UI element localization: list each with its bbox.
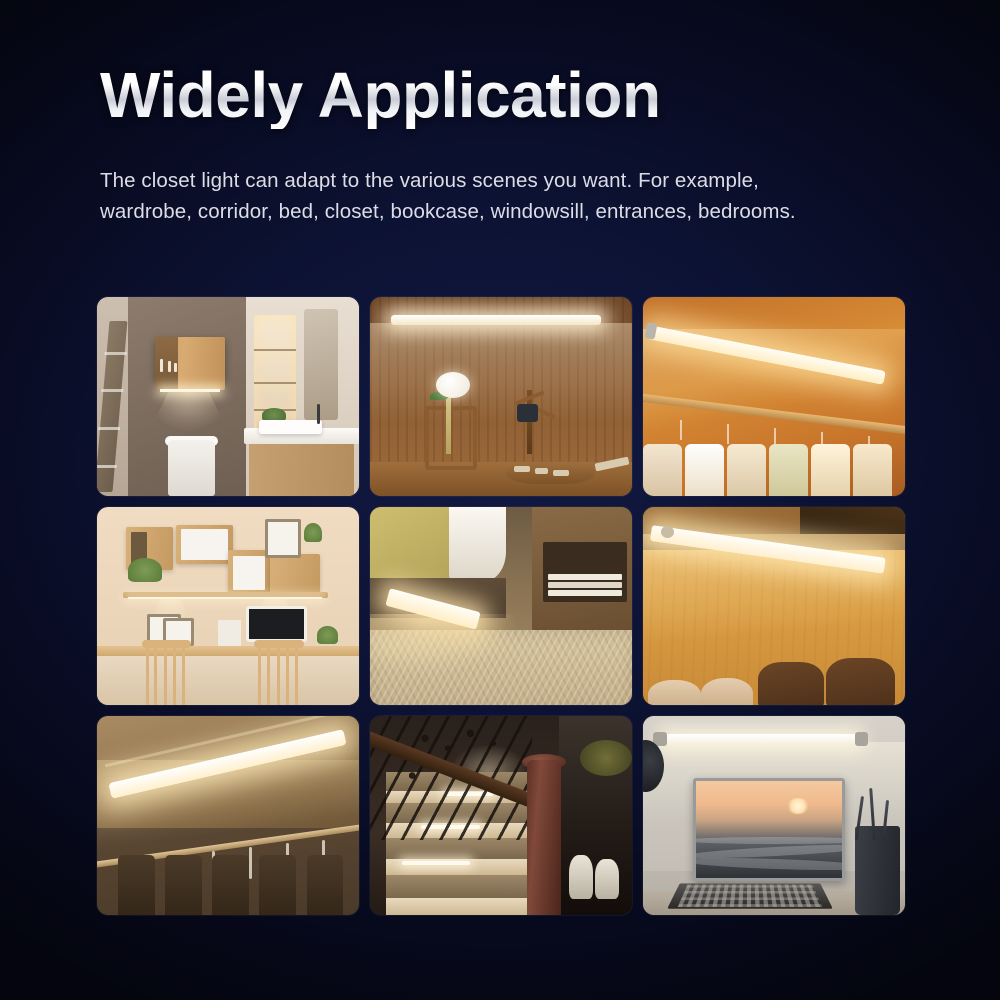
gallery-cell-laptop-desk[interactable] (643, 716, 905, 915)
garment (811, 444, 850, 496)
glass-vase (446, 390, 451, 454)
light-glow (370, 323, 632, 422)
led-bar (391, 315, 601, 325)
scene-laptop-desk (643, 716, 905, 915)
garment (212, 855, 249, 915)
gallery-cell-wardrobe-interior[interactable] (97, 716, 359, 915)
led-bar (664, 734, 858, 744)
scene-study-desk-shelves (97, 507, 359, 706)
shoe (701, 678, 753, 706)
gallery-cell-shoe-cabinet[interactable] (643, 507, 905, 706)
garment (165, 855, 202, 915)
garment (685, 444, 724, 496)
page-subtitle: The closet light can adapt to the variou… (100, 165, 800, 227)
gallery-cell-bedside-floor[interactable] (370, 507, 632, 706)
led-bar (128, 597, 322, 599)
scene-bedside-floor (370, 507, 632, 706)
duvet (449, 507, 507, 582)
garment (769, 444, 808, 496)
picture-frame (265, 519, 302, 559)
gallery-cell-closet-hanging-rod[interactable] (643, 297, 905, 496)
toilet (168, 440, 215, 496)
page-title: Widely Application (100, 62, 661, 129)
shelf-box (270, 554, 320, 594)
laptop-screen (693, 778, 845, 881)
vase-stand (425, 406, 477, 470)
laptop-keyboard (668, 884, 833, 909)
scene-closet-hanging-rod (643, 297, 905, 496)
boot (826, 658, 894, 706)
light-glow (370, 614, 559, 705)
gallery-cell-wardrobe-shelf-rose[interactable] (370, 297, 632, 496)
chair (254, 640, 304, 706)
gallery-cell-bathroom-vanity[interactable] (97, 297, 359, 496)
watch (517, 404, 538, 422)
scene-gallery-grid (97, 297, 905, 915)
scene-wardrobe-shelf-rose (370, 297, 632, 496)
garment (643, 444, 682, 496)
scene-staircase (370, 716, 632, 915)
pen-cup (855, 826, 900, 915)
scene-shoe-cabinet (643, 507, 905, 706)
boot (758, 662, 824, 706)
desk-surface (97, 646, 359, 656)
white-rose (436, 372, 470, 398)
garment (118, 855, 155, 915)
poster-canvas: Widely Application The closet light can … (0, 0, 1000, 1000)
garment (727, 444, 766, 496)
shoe (648, 680, 700, 706)
chair (142, 640, 192, 706)
iron-balustrade (370, 716, 532, 839)
gallery-cell-staircase[interactable] (370, 716, 632, 915)
faucet (317, 404, 320, 424)
scene-wardrobe-interior (97, 716, 359, 915)
sink-basin (259, 420, 322, 434)
gallery-cell-study-desk-shelves[interactable] (97, 507, 359, 706)
monitor (246, 606, 306, 642)
garment (259, 855, 296, 915)
newel-post (527, 760, 561, 915)
mirror (304, 309, 338, 420)
garment (307, 855, 344, 915)
scene-bathroom-vanity (97, 297, 359, 496)
sun (786, 798, 809, 814)
garment (853, 444, 892, 496)
